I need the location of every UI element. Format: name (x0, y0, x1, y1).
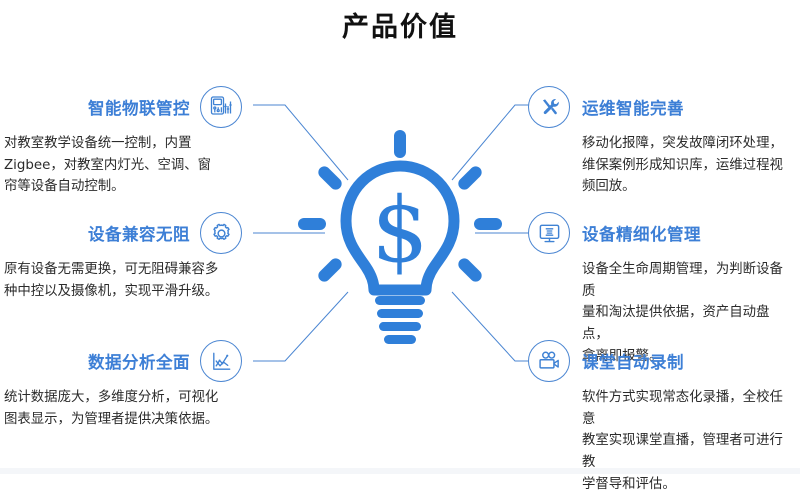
feature-item-left-2[interactable]: 设备兼容无阻 原有设备无需更换，可无阻碍兼容多 种中控以及摄像机，实现平滑升级。 (4, 210, 242, 302)
ray-ne (456, 164, 484, 192)
bulb-base (375, 296, 425, 344)
feature-head: 智能物联管控 (4, 84, 242, 130)
lightbulb-dollar-icon: $ (296, 128, 504, 356)
ray-nw (316, 164, 344, 192)
line-chart-icon[interactable] (200, 340, 242, 382)
feature-title: 智能物联管控 (88, 95, 190, 119)
ray-w (298, 218, 326, 230)
ray-se (456, 256, 484, 284)
feature-description: 移动化报障，突发故障闭环处理， 维保案例形成知识库，运维过程视 频回放。 (582, 133, 796, 198)
feature-item-left-1[interactable]: 智能物联管控 对教室教学设备统一控制，内置 Zigbee，对教室内灯光、空调、窗… (4, 84, 242, 198)
feature-item-left-3[interactable]: 数据分析全面 统计数据庞大，多维度分析，可视化 图表显示，为管理者提供决策依据。 (4, 338, 242, 430)
ray-e (474, 218, 502, 230)
bottom-strip (0, 468, 800, 474)
feature-head: 课堂自动录制 (528, 338, 796, 384)
feature-head: 设备精细化管理 (528, 210, 796, 256)
svg-text:$: $ (371, 178, 428, 283)
feature-head: 数据分析全面 (4, 338, 242, 384)
feature-title: 数据分析全面 (88, 349, 190, 373)
feature-title: 设备精细化管理 (582, 221, 701, 245)
tools-wrench-screwdriver-icon[interactable] (528, 86, 570, 128)
feature-description: 原有设备无需更换，可无阻碍兼容多 种中控以及摄像机，实现平滑升级。 (4, 259, 242, 302)
feature-description: 对教室教学设备统一控制，内置 Zigbee，对教室内灯光、空调、窗 帘等设备自动… (4, 133, 242, 198)
video-camera-icon[interactable] (528, 340, 570, 382)
desktop-monitor-icon[interactable] (528, 212, 570, 254)
dollar-sign: $ (371, 178, 428, 283)
feature-title: 课堂自动录制 (582, 349, 684, 373)
feature-description: 软件方式实现常态化录播，全校任意 教室实现课堂直播，管理者可进行教 学督导和评估… (582, 387, 796, 496)
page-title: 产品价值 (0, 12, 800, 44)
feature-description: 统计数据庞大，多维度分析，可视化 图表显示，为管理者提供决策依据。 (4, 387, 242, 430)
infographic-canvas: 产品价值 (0, 0, 800, 474)
device-control-panel-icon[interactable] (200, 86, 242, 128)
center-lightbulb: $ (296, 128, 504, 356)
feature-title: 运维智能完善 (582, 95, 684, 119)
feature-head: 设备兼容无阻 (4, 210, 242, 256)
feature-head: 运维智能完善 (528, 84, 796, 130)
gear-icon[interactable] (200, 212, 242, 254)
feature-title: 设备兼容无阻 (88, 221, 190, 245)
ray-sw (316, 256, 344, 284)
feature-item-right-1[interactable]: 运维智能完善 移动化报障，突发故障闭环处理， 维保案例形成知识库，运维过程视 频… (528, 84, 796, 198)
ray-n (394, 130, 406, 158)
